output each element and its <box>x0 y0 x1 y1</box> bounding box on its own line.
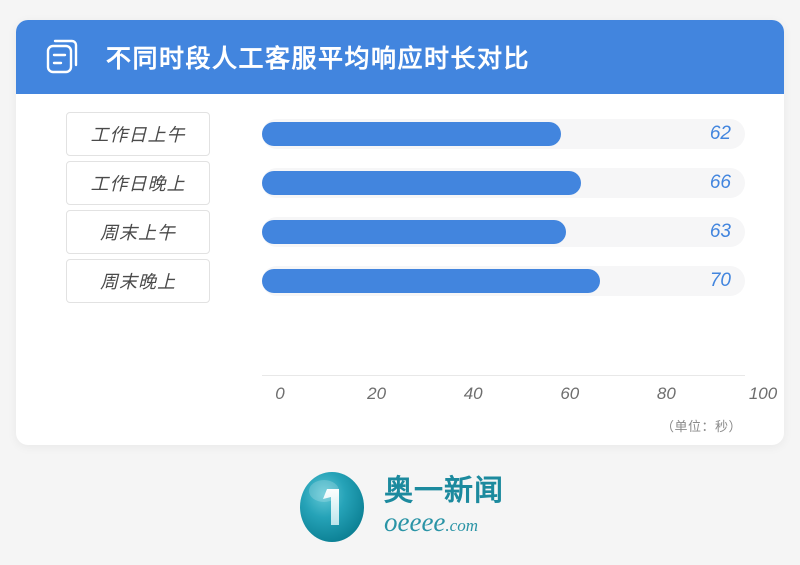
screenshot-root: 不同时段人工客服平均响应时长对比 020406080100 （单位：秒） 工作日… <box>0 0 800 565</box>
bar-value-label: 70 <box>710 266 731 296</box>
unit-note: （单位：秒） <box>661 416 742 435</box>
category-label: 周末晚上 <box>100 268 176 294</box>
category-label: 工作日上午 <box>91 121 186 147</box>
category-label-box: 周末晚上 <box>66 259 210 303</box>
bar-fill <box>262 220 566 244</box>
chart-row: 周末晚上70 <box>16 259 784 303</box>
oeeee-sphere-logo-icon <box>296 469 368 545</box>
footer-branding: 奥一新闻 oeeee.com <box>0 462 800 552</box>
bar-track: 62 <box>262 119 745 149</box>
x-axis-tick: 20 <box>367 384 386 404</box>
page-title: 不同时段人工客服平均响应时长对比 <box>106 39 530 75</box>
bar-track: 63 <box>262 217 745 247</box>
category-label-box: 周末上午 <box>66 210 210 254</box>
bar-value-label: 62 <box>710 119 731 149</box>
card-header: 不同时段人工客服平均响应时长对比 <box>16 20 784 94</box>
bar-track: 70 <box>262 266 745 296</box>
bar-fill <box>262 171 581 195</box>
chart-row: 工作日上午62 <box>16 112 784 156</box>
brand-name-en: oeeee.com <box>384 508 504 538</box>
x-axis-tick: 40 <box>464 384 483 404</box>
bar-fill <box>262 269 600 293</box>
chart-card: 不同时段人工客服平均响应时长对比 020406080100 （单位：秒） 工作日… <box>16 20 784 445</box>
horizontal-bar-chart: 020406080100 （单位：秒） 工作日上午62工作日晚上66周末上午63… <box>16 94 784 445</box>
brand-name-cn: 奥一新闻 <box>384 476 504 506</box>
bar-value-label: 63 <box>710 217 731 247</box>
chart-row: 周末上午63 <box>16 210 784 254</box>
category-label-box: 工作日晚上 <box>66 161 210 205</box>
x-axis-line <box>262 375 745 376</box>
bar-value-label: 66 <box>710 168 731 198</box>
category-label: 周末上午 <box>100 219 176 245</box>
brand-name-en-main: oeeee <box>384 507 445 537</box>
documents-stack-icon <box>42 35 86 79</box>
x-axis-tick: 60 <box>560 384 579 404</box>
brand-name-en-suffix: .com <box>445 516 478 535</box>
x-axis-tick-labels: 020406080100 <box>262 384 745 410</box>
card-body: 020406080100 （单位：秒） 工作日上午62工作日晚上66周末上午63… <box>16 94 784 445</box>
x-axis-tick: 0 <box>275 384 284 404</box>
brand-text-block: 奥一新闻 oeeee.com <box>384 476 504 537</box>
x-axis-tick: 80 <box>657 384 676 404</box>
chart-row: 工作日晚上66 <box>16 161 784 205</box>
category-label-box: 工作日上午 <box>66 112 210 156</box>
bar-fill <box>262 122 561 146</box>
category-label: 工作日晚上 <box>91 170 186 196</box>
bar-track: 66 <box>262 168 745 198</box>
x-axis-tick: 100 <box>749 384 777 404</box>
